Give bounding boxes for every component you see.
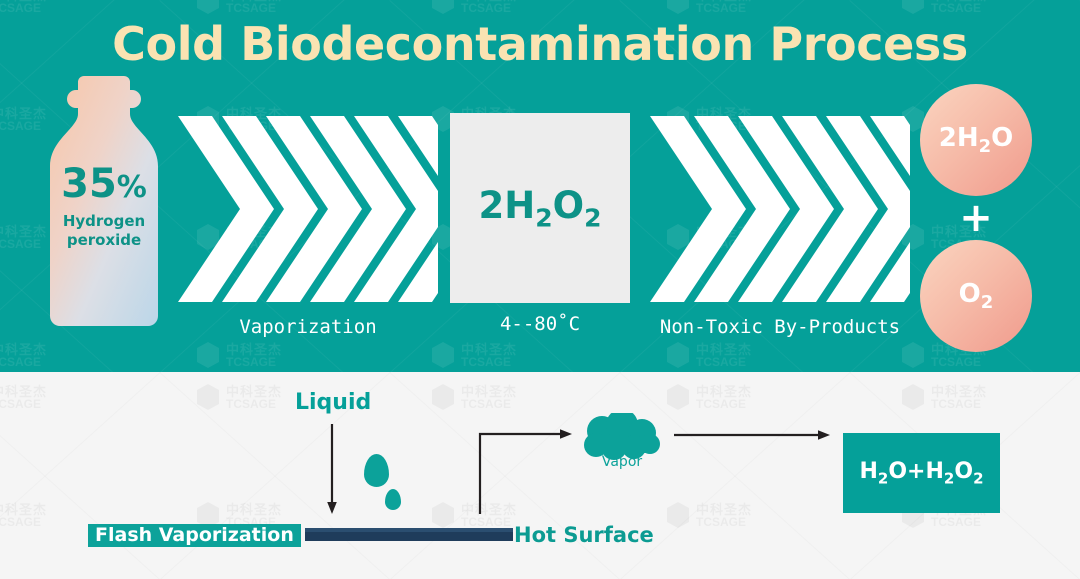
hot-surface-label: Hot Surface [514, 524, 654, 546]
hydrogen-peroxide-bottle: 35% Hydrogen peroxide [44, 72, 164, 330]
flash-vaporization-badge: Flash Vaporization [88, 524, 301, 547]
chevron-group-vaporization [178, 116, 438, 302]
infographic-canvas: 中科圣杰TCSAGE中科圣杰TCSAGE中科圣杰TCSAGE中科圣杰TCSAGE… [0, 0, 1080, 579]
substance-line-1: Hydrogen [44, 212, 164, 231]
water-part-2: O [991, 123, 1013, 153]
result-part-1: H [860, 459, 878, 484]
hot-surface-bar-highlight [305, 528, 513, 532]
bottle-label-group: 35% Hydrogen peroxide [44, 164, 164, 250]
watermark: 中科圣杰TCSAGE [665, 500, 815, 530]
result-formula: H2O+H2O2 [860, 459, 984, 487]
percent-sign: % [117, 170, 147, 205]
watermark-diagonal [0, 372, 147, 579]
watermark: 中科圣杰TCSAGE [665, 340, 815, 370]
watermark: 中科圣杰TCSAGE [900, 0, 1050, 16]
watermark: 中科圣杰TCSAGE [0, 382, 110, 412]
stage-label-temperature: 4--80˚C [450, 313, 630, 335]
rightward-arrow-icon [674, 429, 834, 441]
product-circle-oxygen: O2 [920, 240, 1032, 352]
watermark: 中科圣杰TCSAGE [0, 0, 110, 16]
page-title: Cold Biodecontamination Process [0, 17, 1080, 71]
chevron-arrows-icon [650, 116, 910, 302]
watermark-diagonal [0, 372, 146, 579]
stage-label-vaporization: Vaporization [178, 316, 438, 338]
substance-line-2: peroxide [44, 231, 164, 250]
plus-operator: + [920, 196, 1032, 240]
reaction-formula: 2H2O2 [479, 184, 602, 232]
watermark-diagonal [390, 372, 837, 579]
droplet-small [385, 489, 401, 510]
result-sub-2: 2 [944, 469, 954, 487]
substance-name: Hydrogen peroxide [44, 212, 164, 250]
result-box: H2O+H2O2 [843, 433, 1000, 513]
result-part-3: O [954, 459, 973, 484]
watermark: 中科圣杰TCSAGE [430, 382, 580, 412]
formula-part-1: 2H [479, 184, 536, 227]
vapor-label: Vapor [578, 454, 666, 470]
watermark: 中科圣杰TCSAGE [665, 0, 815, 16]
concentration-value: 35% [44, 164, 164, 204]
process-overview-band: 中科圣杰TCSAGE中科圣杰TCSAGE中科圣杰TCSAGE中科圣杰TCSAGE… [0, 0, 1080, 372]
formula-part-2: O [553, 184, 584, 227]
formula-sub-2: 2 [584, 203, 601, 232]
result-sub-1: 2 [878, 469, 888, 487]
watermark: 中科圣杰TCSAGE [900, 382, 1050, 412]
water-sub: 2 [979, 136, 992, 157]
watermark-diagonal [389, 372, 836, 579]
watermark: 中科圣杰TCSAGE [0, 340, 110, 370]
watermark: 中科圣杰TCSAGE [430, 0, 580, 16]
water-part-1: 2H [939, 123, 979, 153]
oxygen-sub: 2 [981, 292, 994, 313]
product-circle-water: 2H2O [920, 84, 1032, 196]
chevron-arrows-icon [178, 116, 438, 302]
oxygen-part-1: O [959, 279, 981, 309]
watermark: 中科圣杰TCSAGE [195, 340, 345, 370]
result-part-2: O+H [888, 459, 944, 484]
liquid-label: Liquid [295, 390, 371, 415]
watermark: 中科圣杰TCSAGE [430, 340, 580, 370]
concentration-number: 35 [61, 161, 117, 207]
reaction-box: 2H2O2 [450, 113, 630, 303]
product-formula-oxygen: O2 [959, 279, 994, 313]
chevron-group-byproducts [650, 116, 910, 302]
watermark: 中科圣杰TCSAGE [665, 382, 815, 412]
droplet-large [364, 454, 389, 487]
watermark: 中科圣杰TCSAGE [195, 0, 345, 16]
formula-sub-1: 2 [535, 203, 552, 232]
stage-label-byproducts: Non-Toxic By-Products [640, 316, 920, 338]
downward-arrow-icon [326, 424, 338, 516]
product-formula-water: 2H2O [939, 123, 1014, 157]
result-sub-3: 2 [973, 469, 983, 487]
elbow-arrow-icon [478, 428, 578, 518]
